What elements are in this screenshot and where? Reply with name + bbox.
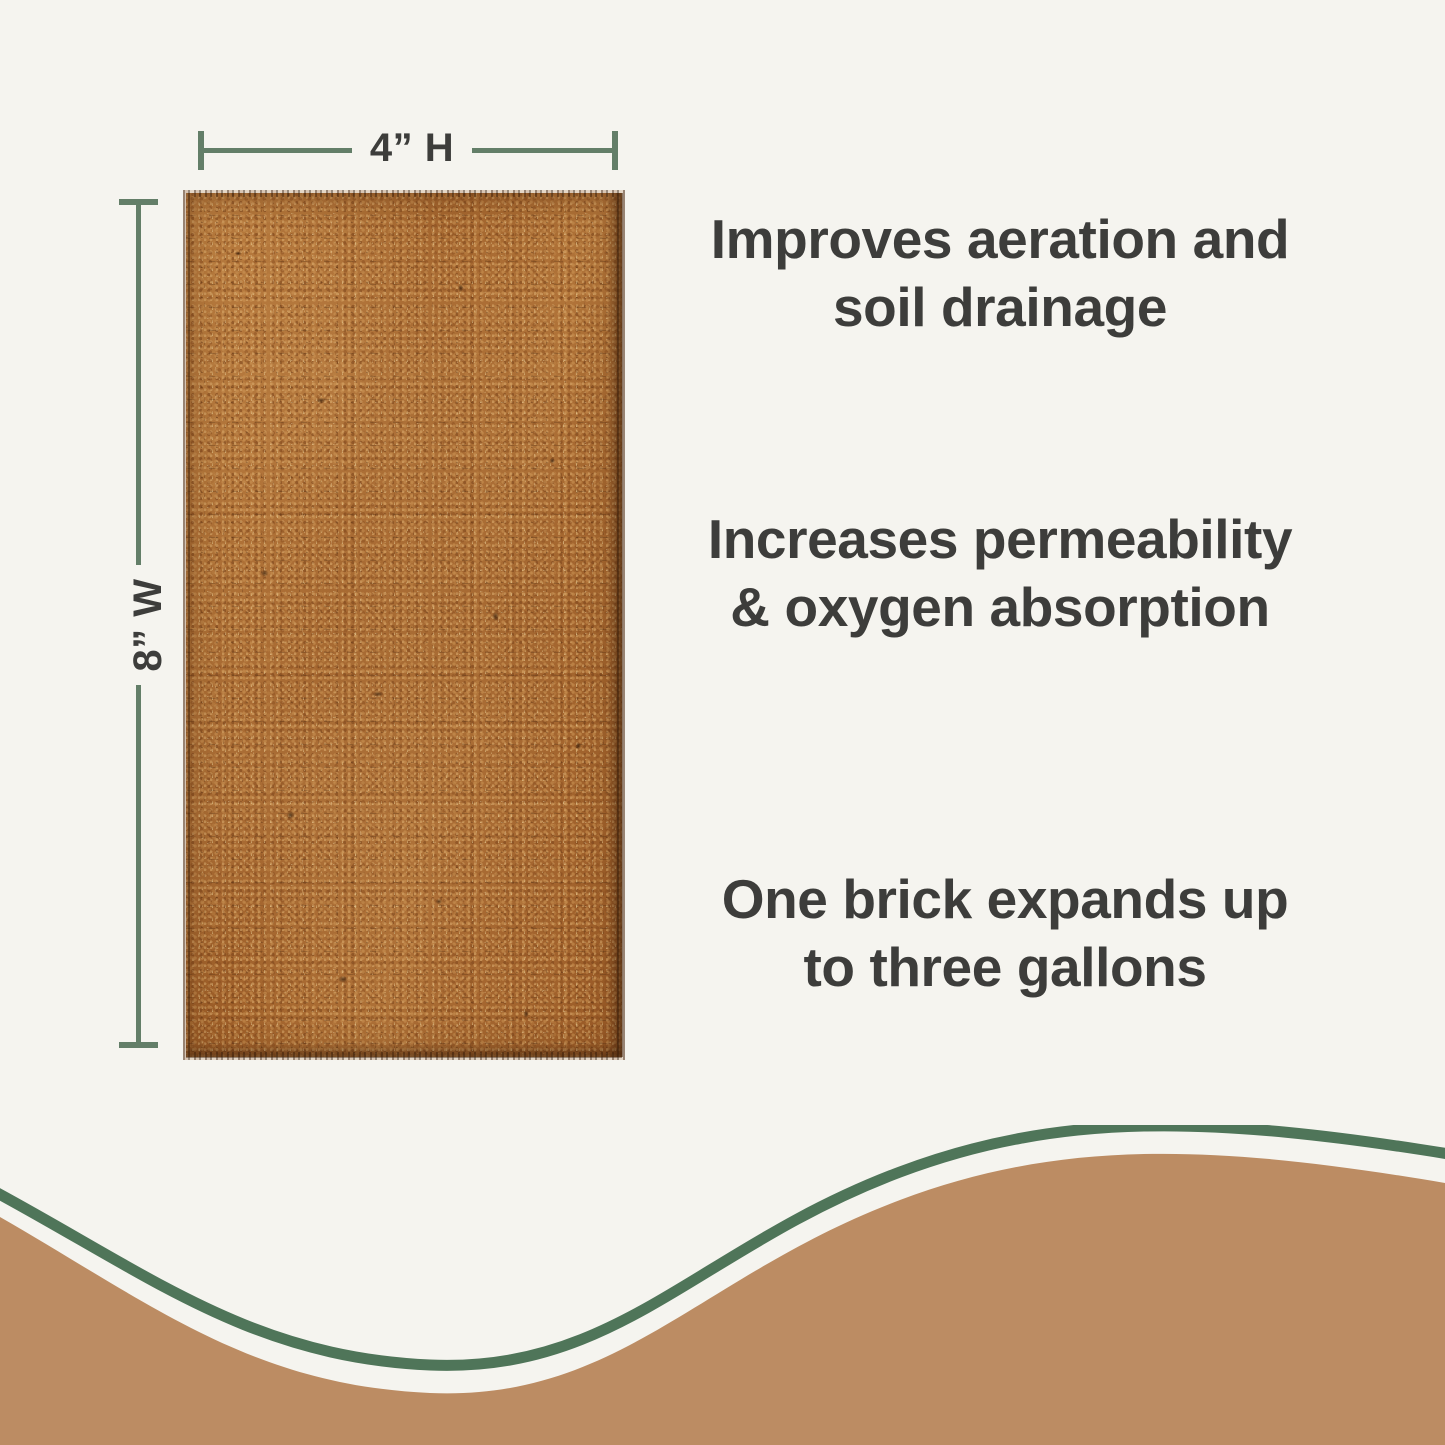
bottom-wave-divider — [0, 1125, 1445, 1445]
dimension-cap-bottom-icon — [119, 1042, 158, 1048]
dimension-cap-left-icon — [198, 131, 204, 170]
feature-text-permeability: Increases permeability & oxygen absorpti… — [690, 505, 1310, 641]
dimension-cap-top-icon — [119, 199, 158, 205]
wave-fill-shape — [0, 1154, 1445, 1445]
brick-texture — [186, 193, 622, 1057]
dimension-label-height: 4” H — [352, 122, 472, 175]
feature-text-aeration: Improves aeration and soil drainage — [700, 205, 1300, 341]
infographic-canvas: 4” H 8” W Improves aeration and soil dra… — [0, 0, 1445, 1445]
feature-text-expansion: One brick expands up to three gallons — [700, 865, 1310, 1001]
dimension-cap-right-icon — [612, 131, 618, 170]
coco-coir-brick-image — [186, 193, 622, 1057]
